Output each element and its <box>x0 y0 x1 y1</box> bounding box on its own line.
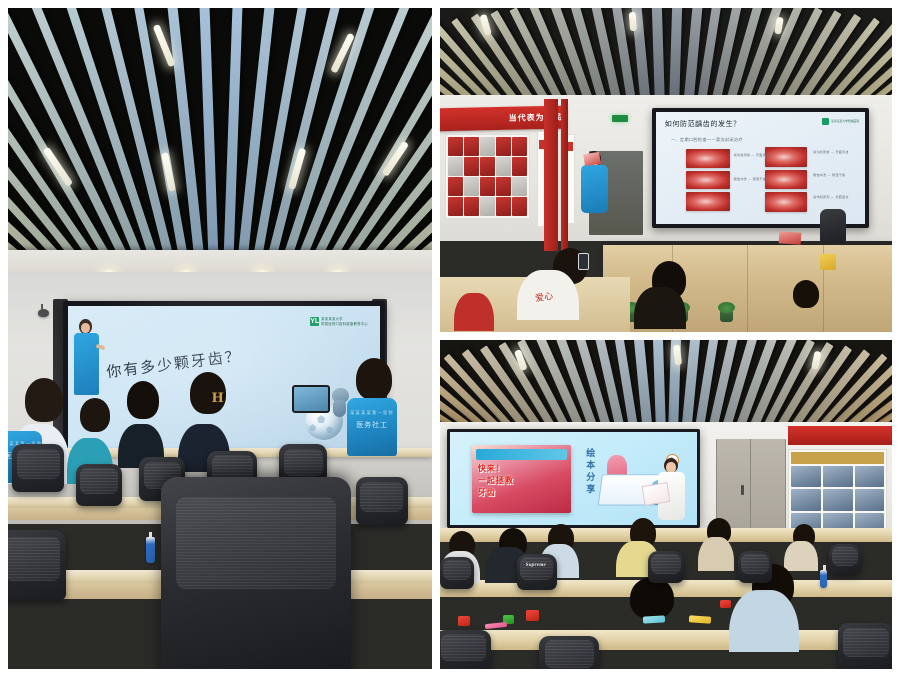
slide-caption-4: 窝沟封闭前 — 牙面清洁 <box>734 153 770 157</box>
vest-subtext: 某某某某第一医院 <box>350 410 394 416</box>
slide-surface: YL 某某某某大学 附属医院口腔科健康教育中心 你有多少颗牙齿？ <box>68 306 380 451</box>
book-title-line1: 快来！ <box>478 463 505 474</box>
logo-text: 某某某某大学 附属医院口腔科健康教育中心 <box>321 317 368 327</box>
dental-model-on-counter <box>779 231 802 245</box>
office-chair <box>440 557 474 589</box>
craft-paper-pink <box>485 622 507 629</box>
craft-clay-red <box>720 600 731 608</box>
red-pillar-decor <box>544 99 558 251</box>
presenter-figure <box>578 151 612 235</box>
logo-text-line2: 附属医院口腔科健康教育中心 <box>321 322 368 327</box>
panel-lecture-hall-wide: YL 某某某某大学 附属医院口腔科健康教育中心 你有多少颗牙齿？ <box>8 8 432 669</box>
book-title-line2: 一起拯救 <box>478 475 514 486</box>
student-body <box>784 541 818 571</box>
dental-photo <box>686 171 730 190</box>
student-body <box>698 537 734 571</box>
slide-subtitle: 一、定期口腔检查——窝沟封闭治疗 <box>671 137 743 143</box>
ceiling-slat <box>652 340 665 429</box>
logo-text: 某某某某大学附属医院 <box>831 120 859 124</box>
board-header <box>791 452 884 464</box>
ceiling-baffles <box>440 340 892 429</box>
slide-caption-3: 涂布封闭剂 — 光照固化 <box>813 195 849 199</box>
office-chair <box>738 551 772 583</box>
slide-image-column-right <box>765 147 807 212</box>
craft-clay-red <box>458 616 470 626</box>
office-chair-foreground <box>8 530 66 600</box>
vest-text: 医务社工 <box>356 420 388 430</box>
light-tube <box>629 12 637 31</box>
office-chair-foreground <box>539 636 599 669</box>
student-head <box>80 398 110 432</box>
light-tube <box>673 345 682 365</box>
picture-book-cover: 快来！ 一起拯救 牙齿 <box>472 445 571 514</box>
shirt-calligraphy: 爱心 <box>534 289 554 305</box>
hospital-logo: 某某某某大学附属医院 <box>822 118 859 125</box>
chair-brand-tag: Supreme <box>526 563 546 568</box>
dental-photo <box>686 149 730 168</box>
handbag <box>820 254 836 270</box>
craft-paper-yellow <box>688 616 710 625</box>
office-chair <box>76 464 122 506</box>
office-chair <box>648 551 684 583</box>
craft-clay-red <box>526 610 539 621</box>
tablet-device <box>292 385 330 413</box>
slide-caption-2: 酸蚀冲洗 — 隔湿干燥 <box>813 173 845 177</box>
water-bottle <box>820 570 827 588</box>
office-chair-foreground <box>440 630 491 669</box>
audience-body-red <box>454 293 494 331</box>
student-head <box>127 381 159 419</box>
mascot-figure-icon <box>327 388 349 420</box>
office-chair-foreground <box>838 623 892 669</box>
ceiling-slat <box>669 8 682 102</box>
office-chair <box>356 477 408 525</box>
panel-classroom-activity: 快来！ 一起拯救 牙齿 绘本分享 1 <box>440 340 892 669</box>
wall-red-banner <box>788 426 892 446</box>
slide-caption-5: 酸蚀冲洗 — 隔湿干燥 <box>734 177 766 181</box>
audience-body <box>634 287 686 329</box>
logo-mark: YL <box>310 317 319 326</box>
slide-image-column-left <box>686 149 730 211</box>
book-title-line3: 牙齿 <box>478 487 496 498</box>
logo-mark <box>822 118 829 125</box>
ceiling-baffles <box>440 8 892 102</box>
mobile-phone <box>578 253 589 270</box>
office-chair: Supreme <box>517 554 557 590</box>
ceiling-baffles <box>8 8 432 286</box>
potted-plant <box>720 311 733 322</box>
exit-sign-icon <box>612 115 628 122</box>
hair-clip-letter: H <box>212 391 224 406</box>
dental-photo <box>765 192 807 212</box>
craft-paper-cyan <box>643 616 665 624</box>
student-head-foreground <box>630 577 674 619</box>
slide-surface: 某某某某大学附属医院 如何防范龋齿的发生？ 一、定期口腔检查——窝沟封闭治疗 窝… <box>656 112 865 224</box>
office-chair <box>829 544 861 574</box>
door-handle-icon[interactable] <box>741 485 744 495</box>
dental-photo <box>686 192 730 211</box>
water-bottle <box>146 537 155 563</box>
student-head <box>25 378 63 422</box>
student-body-foreground <box>729 590 799 652</box>
slide-caption-1: 窝沟封闭前 — 牙面清洁 <box>813 150 849 154</box>
audience-head <box>793 280 819 308</box>
slide-title: 如何防范龋齿的发生？ <box>665 119 741 129</box>
dental-photo <box>765 170 807 190</box>
office-chair <box>820 209 846 243</box>
cover-band <box>476 449 567 460</box>
slide-title: 你有多少颗牙齿？ <box>105 345 243 382</box>
office-chair <box>12 444 64 492</box>
security-camera-icon <box>38 309 49 317</box>
office-chair-foreground-large <box>161 477 352 669</box>
dental-photo <box>765 147 807 167</box>
photo-collage: YL 某某某某大学 附属医院口腔科健康教育中心 你有多少颗牙齿？ <box>0 0 900 675</box>
student-head <box>356 358 392 400</box>
hospital-logo: YL 某某某某大学 附属医院口腔科健康教育中心 <box>310 317 368 327</box>
desk-row-front <box>440 630 892 650</box>
photo-display-wall <box>445 134 531 218</box>
panel-presenter-view: 当代表为人民 某某某某大学附属医院 如何防范龋齿的发生？ 一、定期口腔检查——窝… <box>440 8 892 332</box>
volunteer-vest: 某某某某第一医院 医务社工 <box>347 398 397 456</box>
dental-model <box>583 151 601 165</box>
ceiling-slat <box>652 8 665 102</box>
